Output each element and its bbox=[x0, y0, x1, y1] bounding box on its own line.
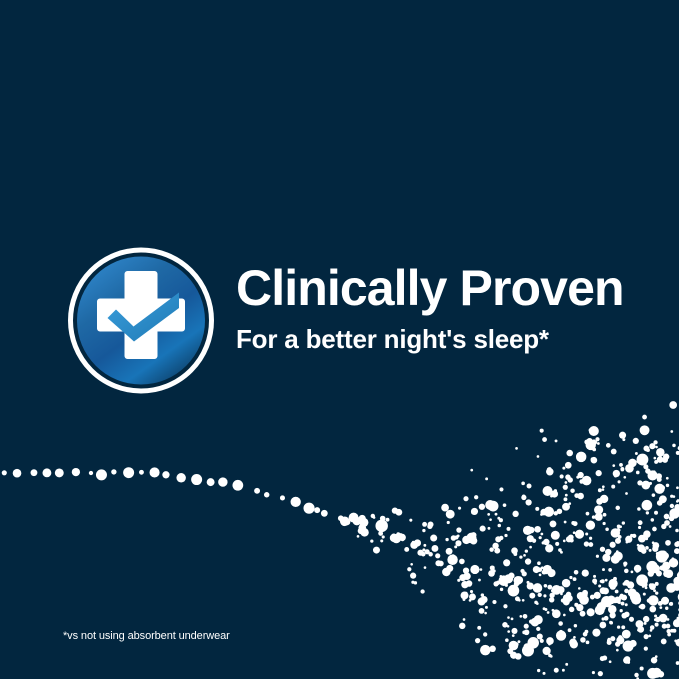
promo-banner: Clinically Proven For a better night's s… bbox=[0, 0, 679, 679]
clinically-proven-badge bbox=[61, 247, 221, 394]
medical-cross-check-badge-icon bbox=[61, 247, 221, 394]
page-title: Clinically Proven bbox=[236, 263, 666, 313]
footnote-disclaimer: *vs not using absorbent underwear bbox=[63, 630, 230, 642]
subtitle: For a better night's sleep* bbox=[236, 326, 666, 352]
headline-block: Clinically Proven For a better night's s… bbox=[236, 263, 666, 352]
